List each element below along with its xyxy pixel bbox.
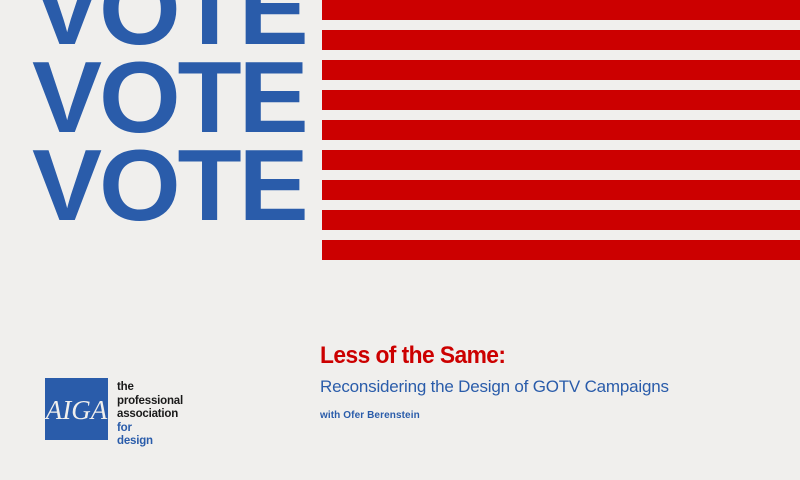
aiga-tagline-line-4: for — [117, 422, 183, 436]
aiga-wordmark: AIGA — [46, 397, 107, 424]
flag-stripes — [322, 0, 800, 262]
aiga-tagline-line-3: association — [117, 408, 183, 422]
aiga-tagline-line-2: professional — [117, 395, 183, 409]
lower-content-area: Less of the Same: Reconsidering the Desi… — [0, 262, 800, 480]
flag-stripe — [322, 60, 800, 80]
aiga-tagline-line-1: the — [117, 381, 183, 395]
flag-stripe — [322, 120, 800, 140]
aiga-logo: AIGA the professional association for de… — [45, 378, 183, 449]
talk-title-block: Less of the Same: Reconsidering the Desi… — [320, 342, 760, 422]
flag-stripe — [322, 180, 800, 200]
flag-stripe — [322, 30, 800, 50]
aiga-tagline-line-5: design — [117, 435, 183, 449]
aiga-logo-mark: AIGA — [45, 378, 108, 440]
aiga-tagline: the professional association for design — [117, 378, 183, 449]
vote-word-3: VOTE — [32, 142, 329, 230]
talk-speaker-credit: with Ofer Berenstein — [320, 409, 760, 422]
vote-wordmark-stack: VOTE VOTE VOTE — [32, 0, 318, 230]
flag-stripe — [322, 210, 800, 230]
talk-subtitle: Reconsidering the Design of GOTV Campaig… — [320, 376, 760, 398]
vote-word-2: VOTE — [32, 54, 329, 142]
flag-stripe — [322, 0, 800, 20]
talk-title: Less of the Same: — [320, 342, 738, 370]
flag-stripe — [322, 240, 800, 260]
hero-flag-banner: VOTE VOTE VOTE — [0, 0, 800, 262]
flag-stripe — [322, 150, 800, 170]
flag-stripe — [322, 90, 800, 110]
